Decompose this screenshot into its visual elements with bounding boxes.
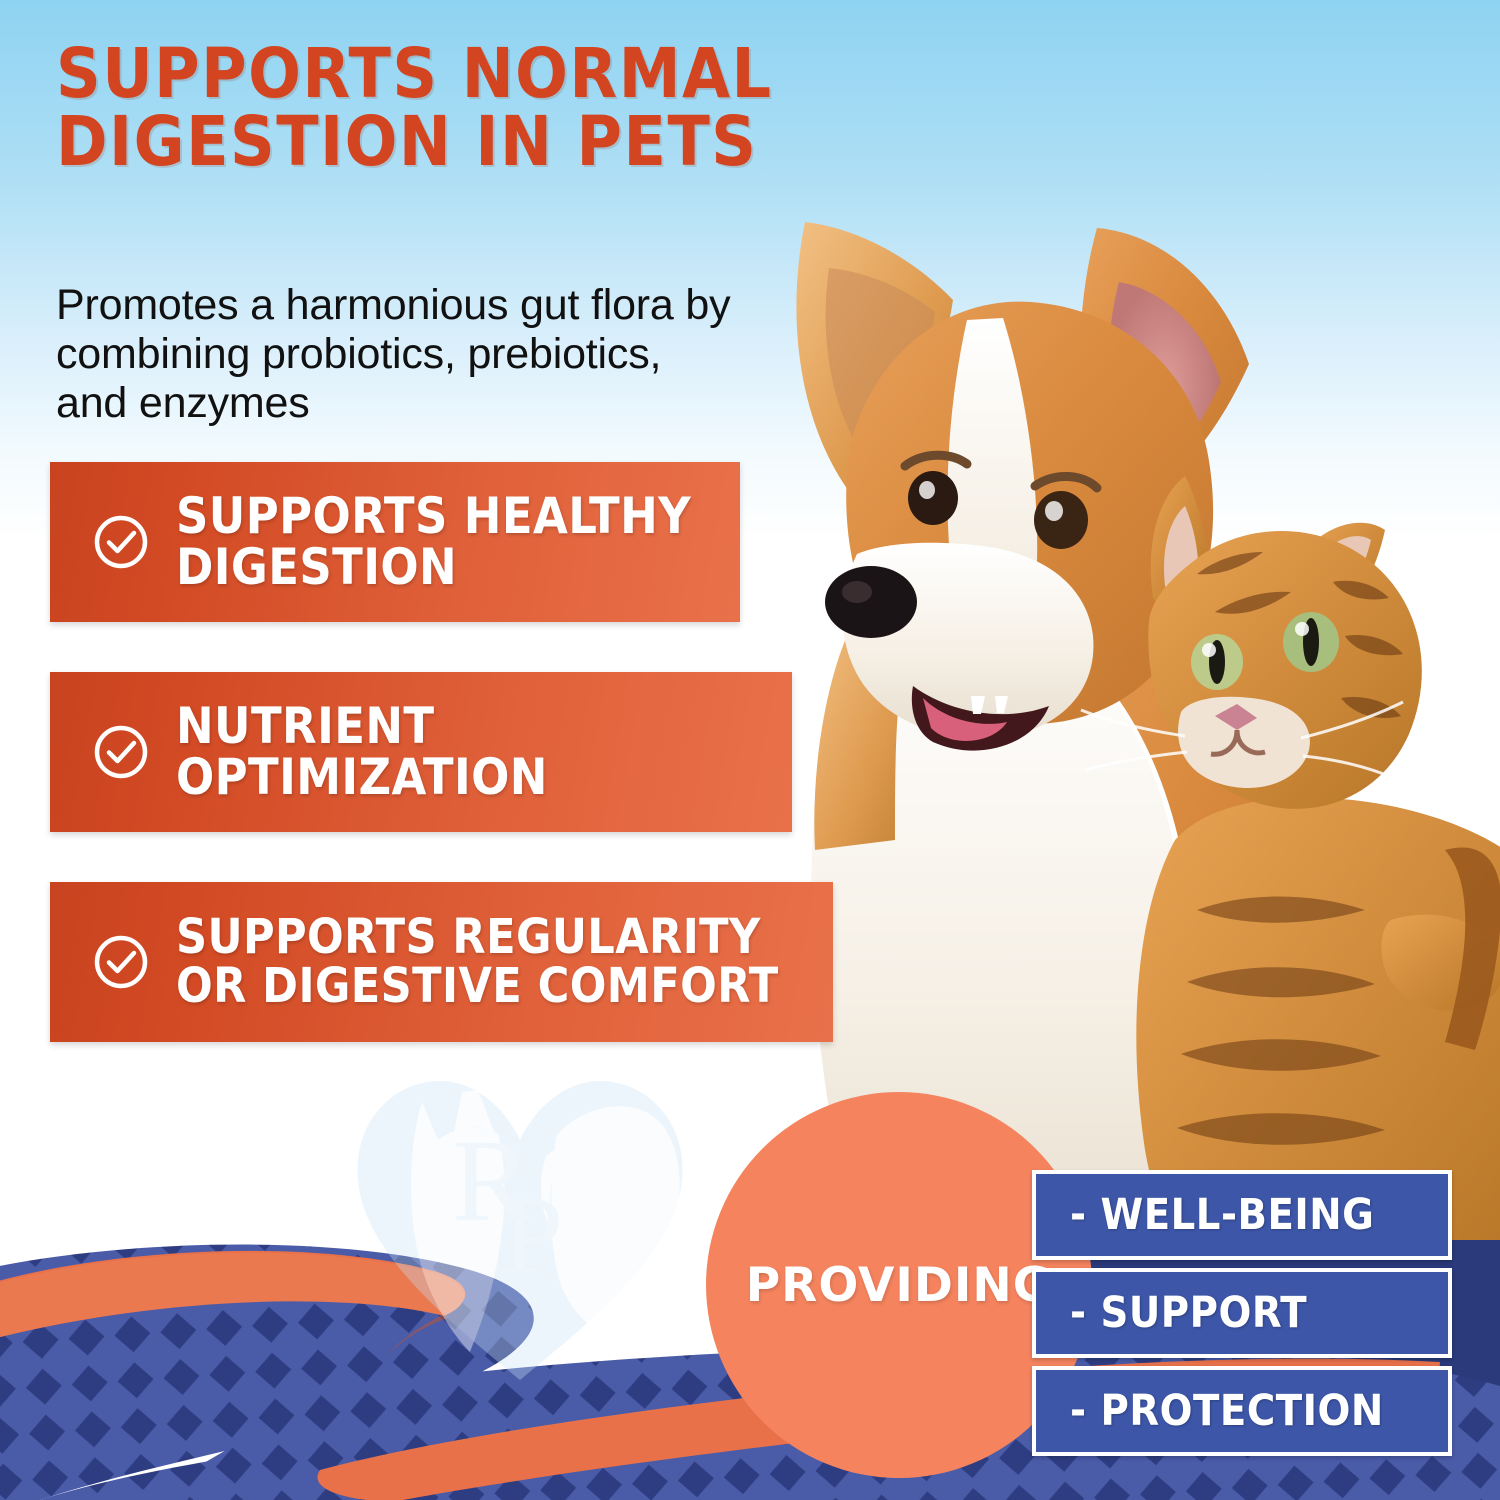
benefit-bar: SUPPORTS REGULARITY OR DIGESTIVE COMFORT [50,882,833,1042]
headline-line-2: DIGESTION IN PETS [56,108,916,176]
outcome-label: - PROTECTION [1070,1386,1384,1436]
outcome-bar: - PROTECTION [1032,1366,1452,1456]
outcome-label: - SUPPORT [1070,1288,1307,1338]
check-circle-icon [92,513,150,571]
benefits-list: SUPPORTS HEALTHY DIGESTION NUTRIENT OPTI… [50,462,833,1042]
benefit-label: SUPPORTS HEALTHY DIGESTION [176,491,691,594]
infographic-canvas: R P SUPPORTS NORMAL DIGESTION IN PETS Pr… [0,0,1500,1500]
benefit-bar: SUPPORTS HEALTHY DIGESTION [50,462,740,622]
benefit-bar: NUTRIENT OPTIMIZATION [50,672,792,832]
check-circle-icon [92,933,150,991]
outcome-bar: - SUPPORT [1032,1268,1452,1358]
providing-label: PROVIDING [746,1258,1053,1313]
benefit-label: SUPPORTS REGULARITY OR DIGESTIVE COMFORT [176,913,779,1012]
page-title: SUPPORTS NORMAL DIGESTION IN PETS [56,40,916,177]
outcome-bar: - WELL-BEING [1032,1170,1452,1260]
check-circle-icon [92,723,150,781]
outcomes-list: - WELL-BEING - SUPPORT - PROTECTION [1032,1170,1452,1456]
outcome-label: - WELL-BEING [1070,1190,1374,1240]
subtitle: Promotes a harmonious gut flora by combi… [56,281,736,428]
benefit-label: NUTRIENT OPTIMIZATION [176,701,548,804]
